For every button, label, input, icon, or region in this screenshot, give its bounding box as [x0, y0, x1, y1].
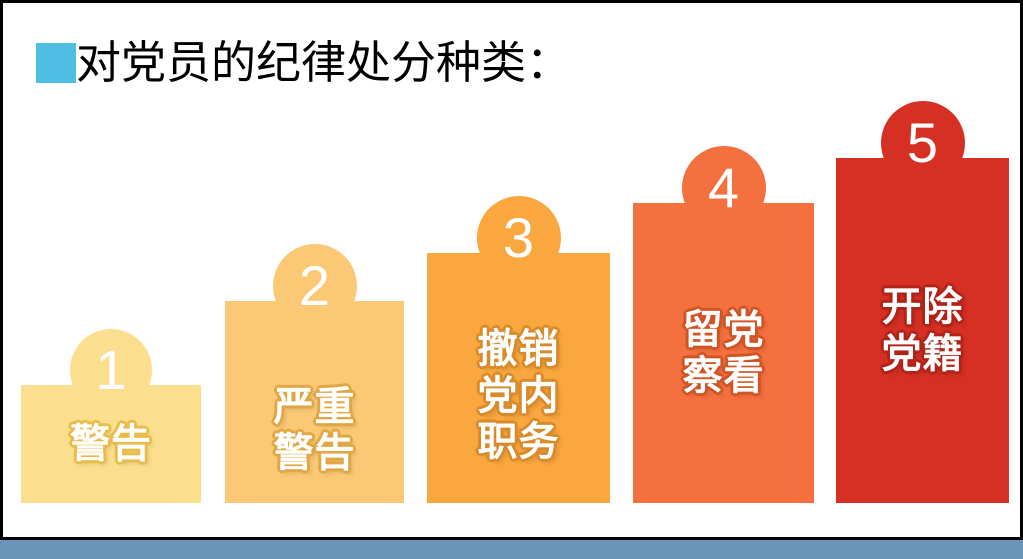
- bar-label-5: 开除 党籍: [882, 284, 964, 377]
- bar-label-2: 严重 警告: [274, 384, 356, 477]
- bar-column-1[interactable]: 1 警告: [21, 385, 201, 503]
- bar-body-4: 留党 察看: [633, 203, 814, 503]
- bar-body-3: 撤销 党内 职务: [427, 253, 610, 521]
- bar-label-1: 警告: [70, 421, 152, 467]
- discipline-levels-bar-chart: 1 警告 2 严重 警告 3 撤销 党内 职务: [3, 3, 1023, 540]
- bar-body-2: 严重 警告: [225, 301, 404, 531]
- bar-column-5[interactable]: 5 开除 党籍: [836, 158, 1009, 503]
- bar-column-4[interactable]: 4 留党 察看: [633, 203, 814, 503]
- bar-body-1: 警告: [21, 385, 201, 507]
- bar-label-4: 留党 察看: [683, 307, 765, 400]
- bar-column-2[interactable]: 2 严重 警告: [225, 301, 404, 503]
- footer-band: [0, 540, 1023, 559]
- slide-root: 对党员的纪律处分种类： 1 警告 2 严重 警告: [0, 0, 1023, 559]
- bar-body-5: 开除 党籍: [836, 158, 1009, 503]
- bar-column-3[interactable]: 3 撤销 党内 职务: [427, 253, 610, 503]
- bar-label-3: 撤销 党内 职务: [478, 326, 560, 465]
- slide-canvas: 对党员的纪律处分种类： 1 警告 2 严重 警告: [0, 0, 1023, 540]
